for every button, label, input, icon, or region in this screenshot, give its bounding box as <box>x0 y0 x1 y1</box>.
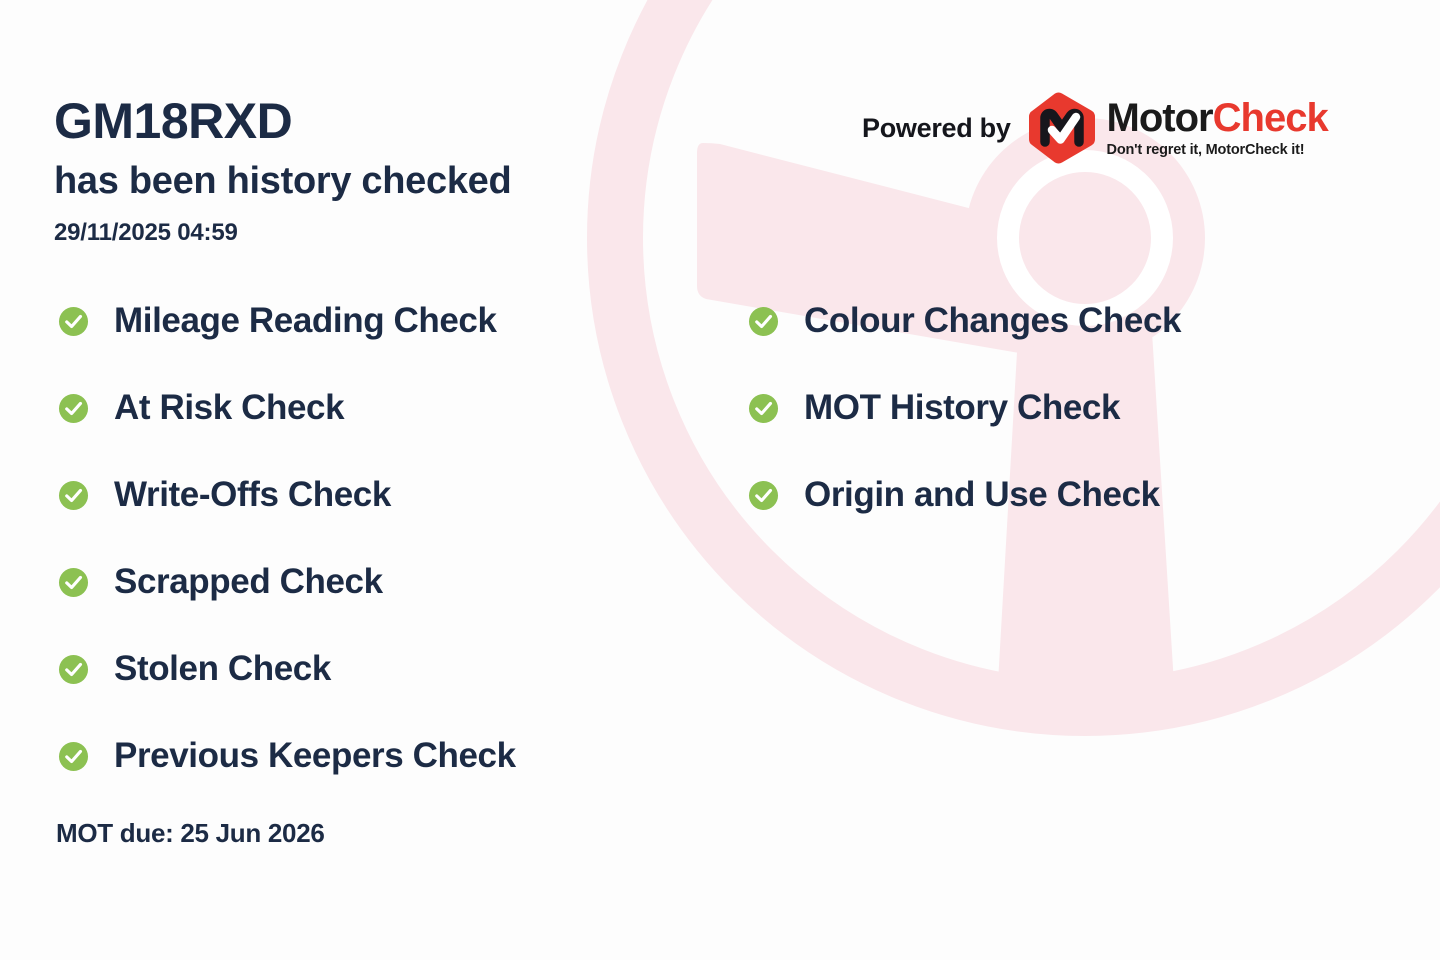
check-item: MOT History Check <box>748 385 1181 431</box>
check-circle-icon <box>58 306 89 337</box>
check-item: Write-Offs Check <box>58 472 516 518</box>
check-circle-icon <box>748 393 779 424</box>
check-item-label: Origin and Use Check <box>804 475 1160 515</box>
check-circle-icon <box>58 393 89 424</box>
check-circle-icon <box>58 741 89 772</box>
motorcheck-hexagon-logo-icon <box>1029 92 1095 164</box>
check-circle-icon <box>58 480 89 511</box>
check-item: Colour Changes Check <box>748 298 1181 344</box>
page-title: has been history checked <box>54 160 511 204</box>
check-item-label: MOT History Check <box>804 388 1120 428</box>
checks-column-right: Colour Changes Check MOT History Check O… <box>748 298 1181 559</box>
powered-by-label: Powered by <box>862 113 1011 144</box>
mot-due-text: MOT due: 25 Jun 2026 <box>56 818 325 849</box>
check-item: Mileage Reading Check <box>58 298 516 344</box>
motorcheck-wordmark: MotorCheck Don't regret it, MotorCheck i… <box>1107 98 1328 158</box>
wordmark-check: Check <box>1213 96 1328 140</box>
checks-column-left: Mileage Reading Check At Risk Check Writ… <box>58 298 516 820</box>
history-check-card: GM18RXD has been history checked 29/11/2… <box>0 0 1440 960</box>
powered-by-brand: Powered by MotorCheck Don't regret it, M… <box>862 92 1328 164</box>
check-circle-icon <box>58 654 89 685</box>
check-circle-icon <box>58 567 89 598</box>
check-item-label: At Risk Check <box>114 388 344 428</box>
check-circle-icon <box>748 306 779 337</box>
check-item-label: Scrapped Check <box>114 562 383 602</box>
check-item-label: Mileage Reading Check <box>114 301 497 341</box>
check-item: Origin and Use Check <box>748 472 1181 518</box>
check-circle-icon <box>748 480 779 511</box>
check-item: Stolen Check <box>58 646 516 692</box>
check-timestamp: 29/11/2025 04:59 <box>54 219 238 247</box>
check-item: Previous Keepers Check <box>58 733 516 779</box>
brand-tagline: Don't regret it, MotorCheck it! <box>1107 143 1328 158</box>
registration-plate-title: GM18RXD <box>54 95 292 148</box>
check-item-label: Colour Changes Check <box>804 301 1181 341</box>
motorcheck-logo[interactable]: MotorCheck Don't regret it, MotorCheck i… <box>1029 92 1328 164</box>
check-item-label: Previous Keepers Check <box>114 736 516 776</box>
check-item-label: Write-Offs Check <box>114 475 391 515</box>
check-item: At Risk Check <box>58 385 516 431</box>
check-item: Scrapped Check <box>58 559 516 605</box>
check-item-label: Stolen Check <box>114 649 331 689</box>
wordmark-motor: Motor <box>1107 96 1213 140</box>
